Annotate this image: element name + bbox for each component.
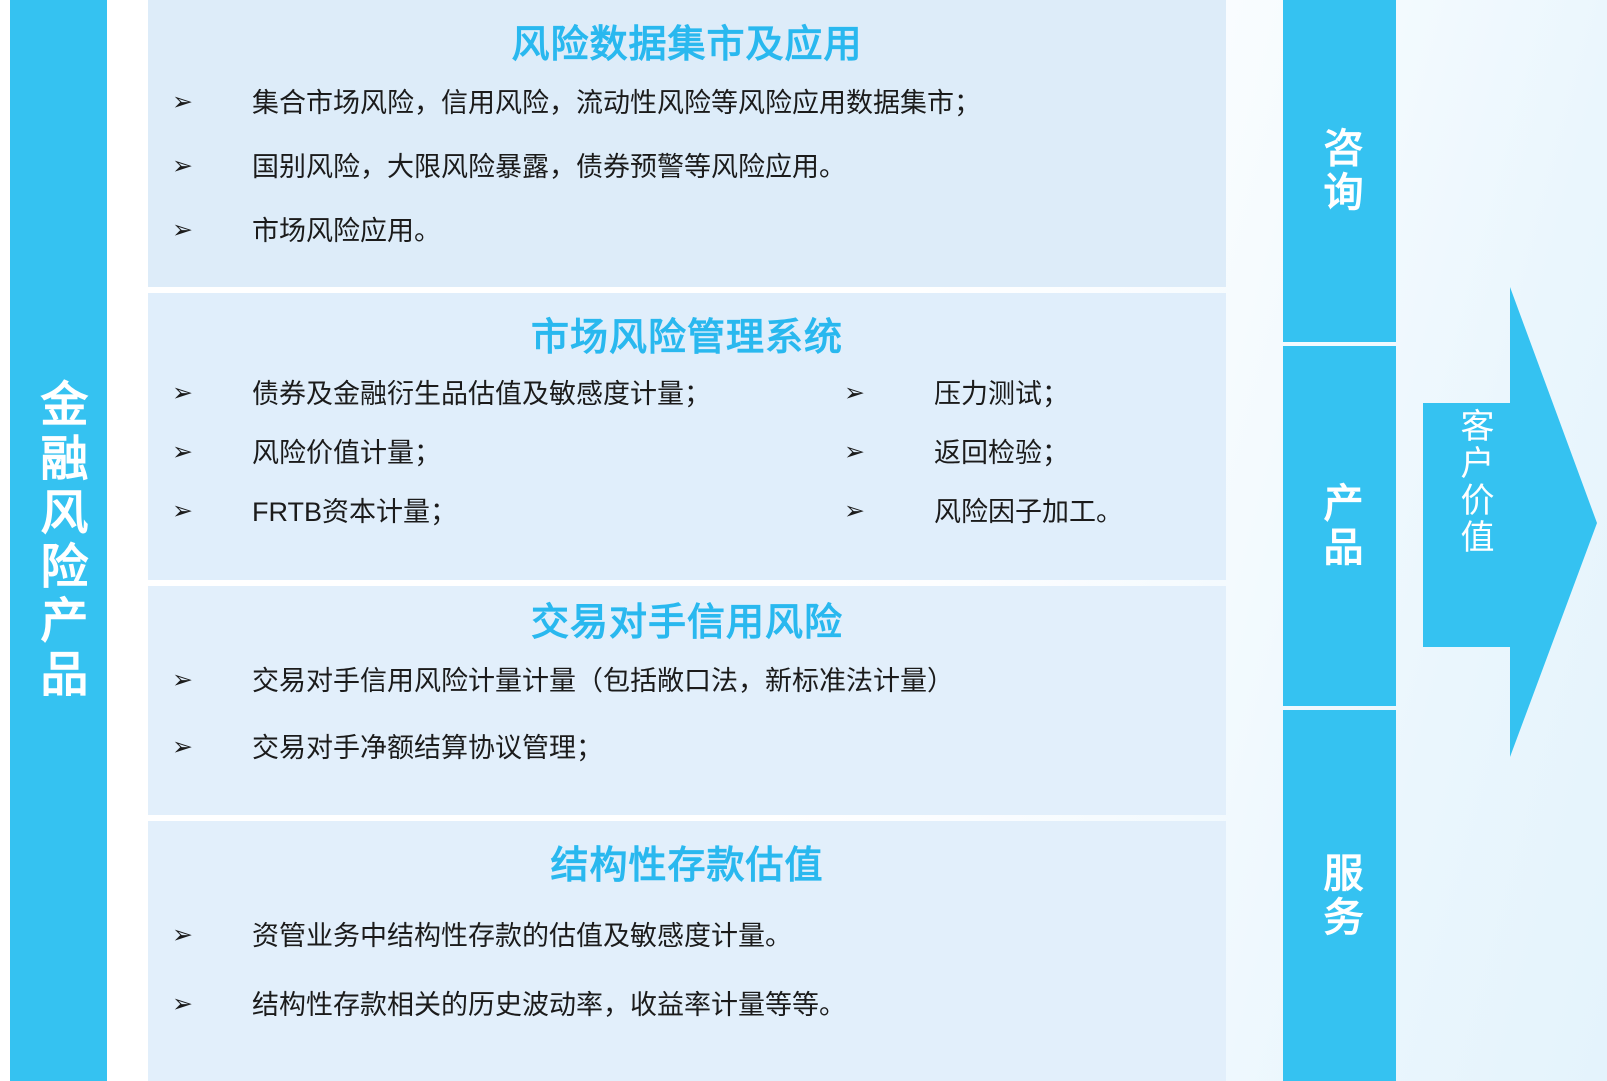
arrow-label: 客户价值 xyxy=(1454,408,1494,556)
list-item-label: 交易对手净额结算协议管理； xyxy=(252,735,1226,762)
list-item: ➢ 资管业务中结构性存款的估值及敏感度计量。 xyxy=(148,923,1226,950)
content-block-market-risk-system: 市场风险管理系统 ➢ 债券及金融衍生品估值及敏感度计量； ➢ 风险价值计量； ➢… xyxy=(148,293,1226,580)
arrow-bullet-icon: ➢ xyxy=(166,440,252,465)
block-title: 结构性存款估值 xyxy=(148,821,1226,885)
list-item: ➢ 债券及金融衍生品估值及敏感度计量； xyxy=(148,381,838,408)
list-item-label: 市场风险应用。 xyxy=(252,218,1226,245)
list-item-label: 集合市场风险，信用风险，流动性风险等风险应用数据集市； xyxy=(252,90,1226,117)
segment-label: 产品 xyxy=(1319,482,1361,570)
segment-service: 服务 xyxy=(1283,710,1396,1081)
arrow-label-wrap: 客户价值 xyxy=(1430,408,1518,556)
list-item: ➢ 市场风险应用。 xyxy=(148,218,1226,245)
bullet-column-left: ➢ 债券及金融衍生品估值及敏感度计量； ➢ 风险价值计量； ➢ FRTB资本计量… xyxy=(148,381,838,558)
list-item-label: 资管业务中结构性存款的估值及敏感度计量。 xyxy=(252,923,1226,950)
arrow-bullet-icon: ➢ xyxy=(166,499,252,524)
arrow-bullet-icon: ➢ xyxy=(166,735,252,760)
arrow-bullet-icon: ➢ xyxy=(166,218,252,243)
list-item: ➢ 返回检验； xyxy=(838,440,1226,467)
customer-value-arrow: 客户价值 xyxy=(1410,280,1607,765)
arrow-bullet-icon: ➢ xyxy=(838,440,934,465)
content-block-structured-deposit-valuation: 结构性存款估值 ➢ 资管业务中结构性存款的估值及敏感度计量。 ➢ 结构性存款相关… xyxy=(148,821,1226,1081)
list-item: ➢ 集合市场风险，信用风险，流动性风险等风险应用数据集市； xyxy=(148,90,1226,117)
bullet-list: ➢ 交易对手信用风险计量计量（包括敞口法，新标准法计量） ➢ 交易对手净额结算协… xyxy=(148,668,1226,762)
list-item-label: 债券及金融衍生品估值及敏感度计量； xyxy=(252,381,838,408)
list-item: ➢ 结构性存款相关的历史波动率，收益率计量等等。 xyxy=(148,992,1226,1019)
list-item: ➢ FRTB资本计量； xyxy=(148,499,838,526)
list-item: ➢ 国别风险，大限风险暴露，债券预警等风险应用。 xyxy=(148,154,1226,181)
arrow-bullet-icon: ➢ xyxy=(838,381,934,406)
arrow-bullet-icon: ➢ xyxy=(166,992,252,1017)
content-block-stack: 风险数据集市及应用 ➢ 集合市场风险，信用风险，流动性风险等风险应用数据集市； … xyxy=(148,0,1226,1081)
block-title: 交易对手信用风险 xyxy=(148,586,1226,642)
list-item-label: FRTB资本计量； xyxy=(252,499,838,526)
segment-consulting: 咨询 xyxy=(1283,0,1396,342)
bullet-column-right: ➢ 压力测试； ➢ 返回检验； ➢ 风险因子加工。 xyxy=(838,381,1226,558)
list-item-label: 风险价值计量； xyxy=(252,440,838,467)
arrow-bullet-icon: ➢ xyxy=(166,923,252,948)
left-banner-label: 金融风险产品 xyxy=(33,379,85,703)
segment-label: 咨询 xyxy=(1319,127,1361,215)
arrow-bullet-icon: ➢ xyxy=(838,499,934,524)
list-item-label: 压力测试； xyxy=(934,381,1226,408)
list-item-label: 返回检验； xyxy=(934,440,1226,467)
list-item: ➢ 交易对手净额结算协议管理； xyxy=(148,735,1226,762)
two-column-bullet-area: ➢ 债券及金融衍生品估值及敏感度计量； ➢ 风险价值计量； ➢ FRTB资本计量… xyxy=(148,381,1226,558)
bullet-list: ➢ 资管业务中结构性存款的估值及敏感度计量。 ➢ 结构性存款相关的历史波动率，收… xyxy=(148,923,1226,1019)
list-item: ➢ 压力测试； xyxy=(838,381,1226,408)
segment-label: 服务 xyxy=(1319,852,1361,940)
right-segment-bar: 咨询 产品 服务 xyxy=(1283,0,1396,1081)
arrow-bullet-icon: ➢ xyxy=(166,381,252,406)
content-block-risk-data-mart: 风险数据集市及应用 ➢ 集合市场风险，信用风险，流动性风险等风险应用数据集市； … xyxy=(148,0,1226,287)
block-title: 市场风险管理系统 xyxy=(148,293,1226,357)
list-item-label: 结构性存款相关的历史波动率，收益率计量等等。 xyxy=(252,992,1226,1019)
list-item: ➢ 交易对手信用风险计量计量（包括敞口法，新标准法计量） xyxy=(148,668,1226,695)
list-item-label: 交易对手信用风险计量计量（包括敞口法，新标准法计量） xyxy=(252,668,1226,695)
slide-canvas: 金融风险产品 风险数据集市及应用 ➢ 集合市场风险，信用风险，流动性风险等风险应… xyxy=(0,0,1607,1081)
left-vertical-banner: 金融风险产品 xyxy=(10,0,107,1081)
block-title: 风险数据集市及应用 xyxy=(148,0,1226,64)
segment-product: 产品 xyxy=(1283,346,1396,706)
list-item-label: 风险因子加工。 xyxy=(934,499,1226,526)
arrow-bullet-icon: ➢ xyxy=(166,154,252,179)
list-item: ➢ 风险因子加工。 xyxy=(838,499,1226,526)
arrow-bullet-icon: ➢ xyxy=(166,668,252,693)
list-item-label: 国别风险，大限风险暴露，债券预警等风险应用。 xyxy=(252,154,1226,181)
content-block-counterparty-credit-risk: 交易对手信用风险 ➢ 交易对手信用风险计量计量（包括敞口法，新标准法计量） ➢ … xyxy=(148,586,1226,815)
arrow-bullet-icon: ➢ xyxy=(166,90,252,115)
bullet-list: ➢ 集合市场风险，信用风险，流动性风险等风险应用数据集市； ➢ 国别风险，大限风… xyxy=(148,90,1226,245)
list-item: ➢ 风险价值计量； xyxy=(148,440,838,467)
